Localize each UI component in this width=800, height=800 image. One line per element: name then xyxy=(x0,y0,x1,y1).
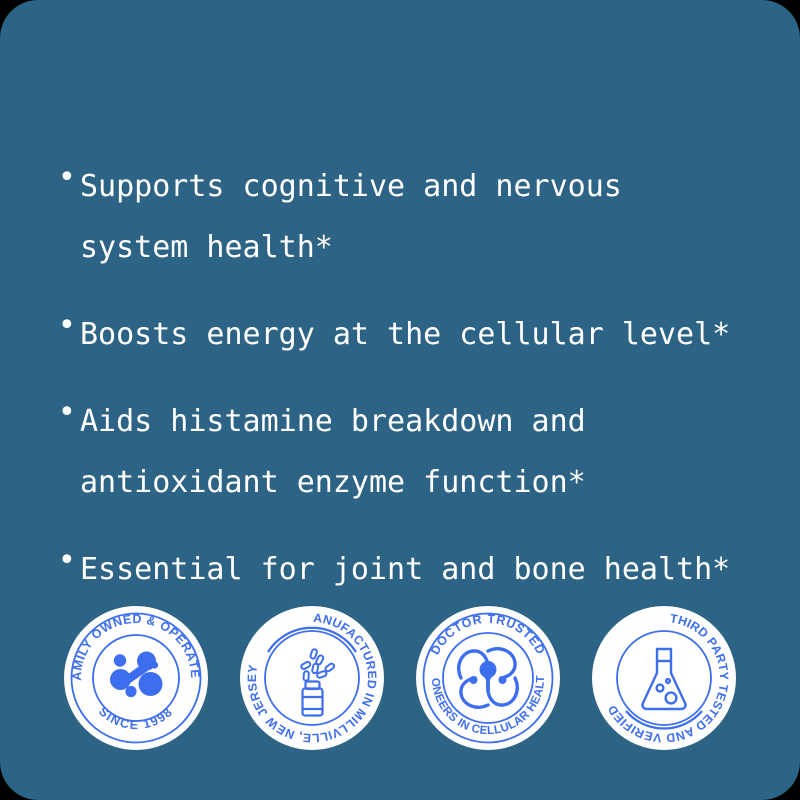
benefit-text: Aids histamine breakdown and antioxidant… xyxy=(80,391,758,513)
list-item: • Boosts energy at the cellular level* xyxy=(58,304,758,365)
bullet-icon: • xyxy=(58,539,80,583)
bullet-icon: • xyxy=(58,391,80,435)
trust-badges-row: FAMILY OWNED & OPERATED SINCE 1998 xyxy=(0,605,800,751)
family-owned-badge: FAMILY OWNED & OPERATED SINCE 1998 xyxy=(63,605,209,751)
product-benefits-card: • Supports cognitive and nervous system … xyxy=(0,0,800,800)
benefits-list: • Supports cognitive and nervous system … xyxy=(58,156,758,600)
benefit-text: Essential for joint and bone health* xyxy=(80,539,758,600)
bullet-icon: • xyxy=(58,304,80,348)
benefit-text: Boosts energy at the cellular level* xyxy=(80,304,758,365)
bullet-icon: • xyxy=(58,156,80,200)
manufactured-badge: MANUFACTURED IN MILLVILLE, NEW JERSEY xyxy=(239,605,385,751)
doctor-trusted-badge: DOCTOR TRUSTED PIONEERS IN CELLULAR HEAL… xyxy=(415,605,561,751)
list-item: • Supports cognitive and nervous system … xyxy=(58,156,758,278)
benefit-text: Supports cognitive and nervous system he… xyxy=(80,156,758,278)
third-party-tested-badge: ALWAYS THIRD PARTY TESTED AND VERIFIED xyxy=(591,605,737,751)
list-item: • Aids histamine breakdown and antioxida… xyxy=(58,391,758,513)
list-item: • Essential for joint and bone health* xyxy=(58,539,758,600)
